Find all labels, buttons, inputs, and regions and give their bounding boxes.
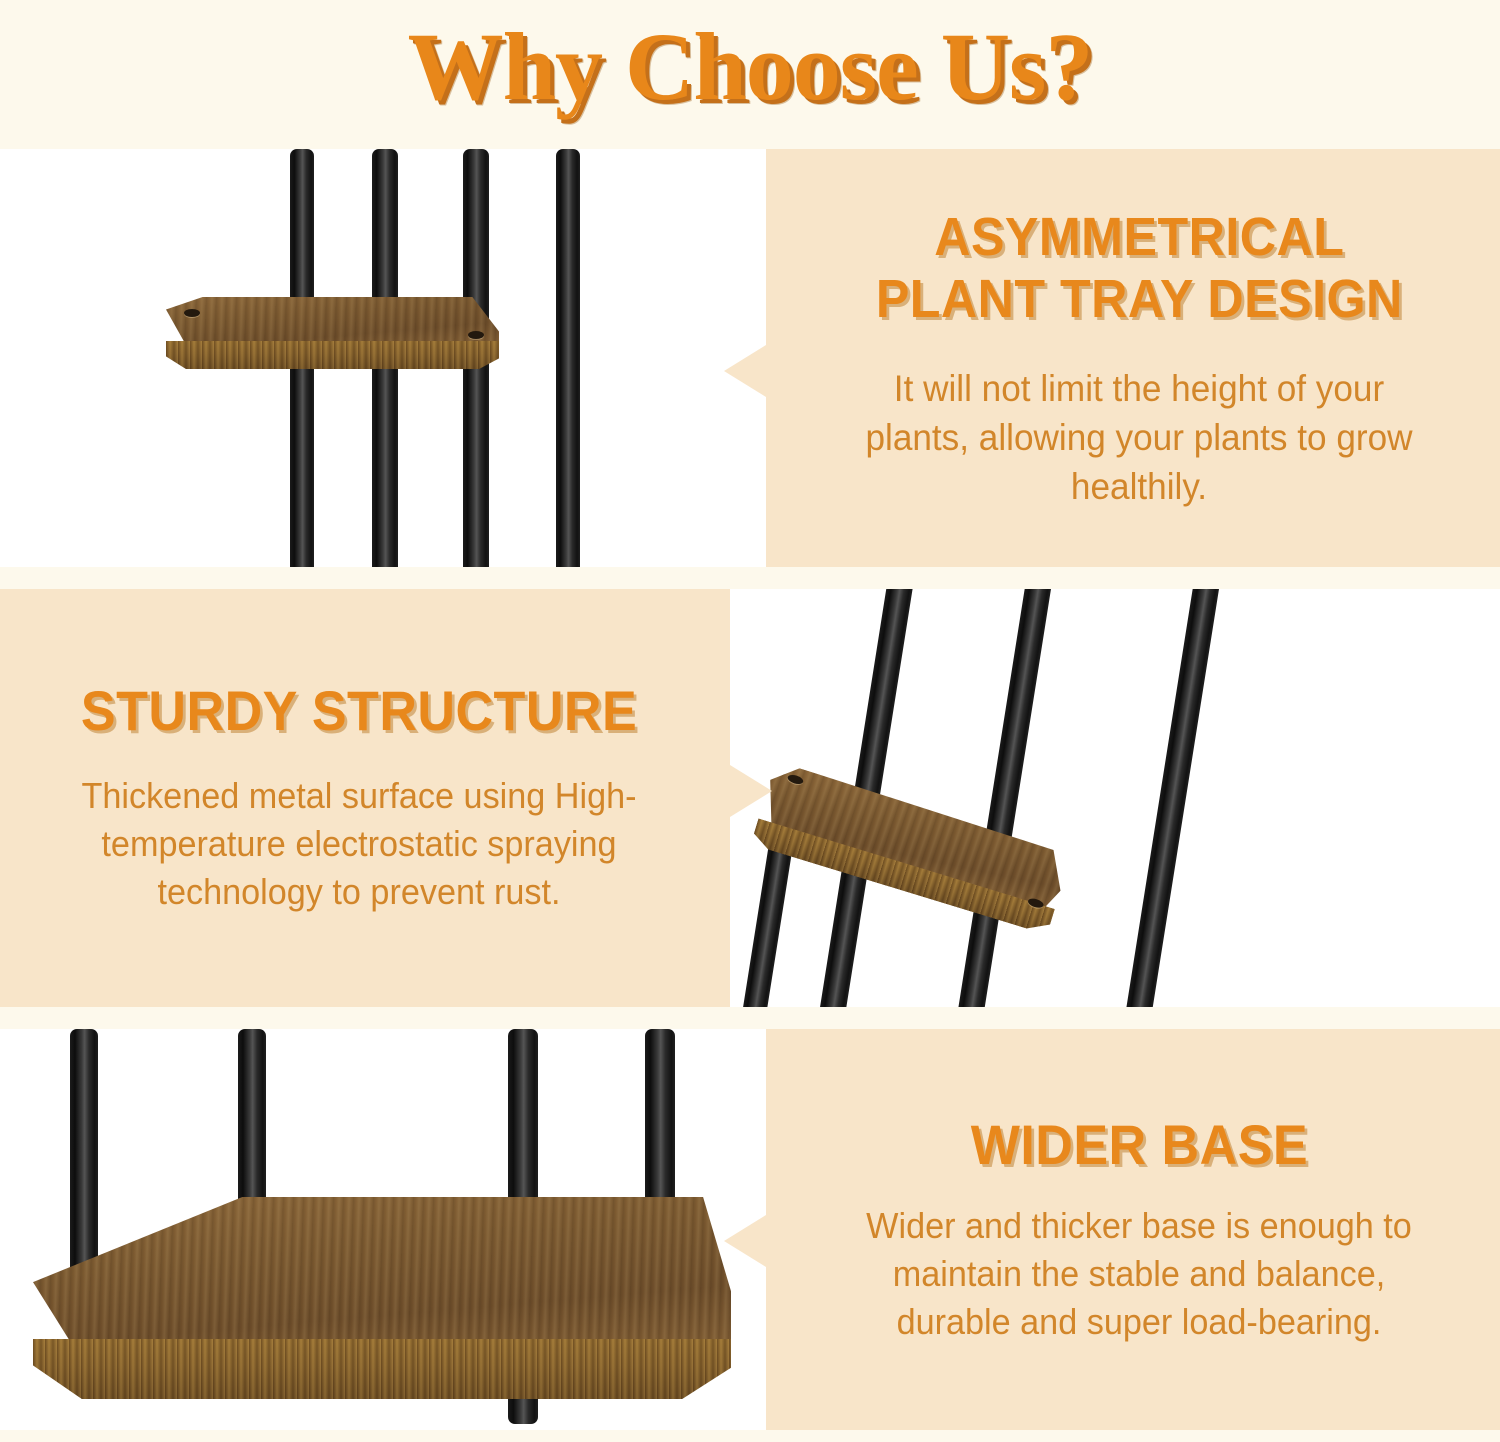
- callout-body: Wider and thicker base is enough to main…: [838, 1202, 1440, 1346]
- section-divider: [0, 1007, 1500, 1029]
- callout-pointer-icon: [730, 765, 772, 817]
- screw-hole-icon: [468, 331, 484, 339]
- callout-heading-line-2: PLANT TRAY DESIGN: [876, 269, 1403, 329]
- callout-panel-wider-base: WIDER BASE Wider and thicker base is eno…: [766, 1029, 1500, 1430]
- callout-pointer-icon: [724, 345, 766, 397]
- product-photo-angled-tray: [728, 589, 1500, 1007]
- section-sturdy-structure: STURDY STRUCTURE Thickened metal surface…: [0, 589, 1500, 1007]
- callout-pointer-icon: [724, 1215, 766, 1267]
- page-title: Why Choose Us?: [0, 8, 1500, 126]
- infographic-page: Why Choose Us? ASYMMETRICAL PLANT TRAY D…: [0, 0, 1500, 1442]
- section-wider-base: WIDER BASE Wider and thicker base is eno…: [0, 1029, 1500, 1430]
- callout-body: Thickened metal surface using High-tempe…: [60, 772, 659, 916]
- callout-heading-line-1: ASYMMETRICAL: [934, 207, 1344, 267]
- product-photo-plant-tray: [0, 149, 770, 567]
- wooden-base-edge: [33, 1339, 731, 1399]
- wooden-tray-surface: [166, 297, 499, 345]
- callout-heading: STURDY STRUCTURE: [81, 680, 637, 742]
- wooden-tray-group: [738, 761, 1072, 976]
- product-photo-wider-base: [0, 1029, 770, 1430]
- screw-hole-icon: [184, 309, 200, 317]
- metal-pole-icon: [556, 149, 580, 567]
- callout-body: It will not limit the height of your pla…: [838, 364, 1440, 511]
- callout-panel-asymmetrical-plant-tray-design: ASYMMETRICAL PLANT TRAY DESIGN It will n…: [766, 149, 1500, 567]
- section-asymmetrical-plant-tray-design: ASYMMETRICAL PLANT TRAY DESIGN It will n…: [0, 149, 1500, 567]
- callout-panel-sturdy-structure: STURDY STRUCTURE Thickened metal surface…: [0, 589, 730, 1007]
- callout-heading: WIDER BASE: [970, 1114, 1307, 1176]
- callout-heading: ASYMMETRICAL PLANT TRAY DESIGN: [876, 206, 1403, 330]
- wooden-base-surface: [33, 1197, 731, 1349]
- wooden-tray-edge: [166, 341, 499, 369]
- metal-pole-icon: [1087, 589, 1222, 1007]
- page-bottom-band: [0, 1430, 1500, 1442]
- section-divider: [0, 567, 1500, 589]
